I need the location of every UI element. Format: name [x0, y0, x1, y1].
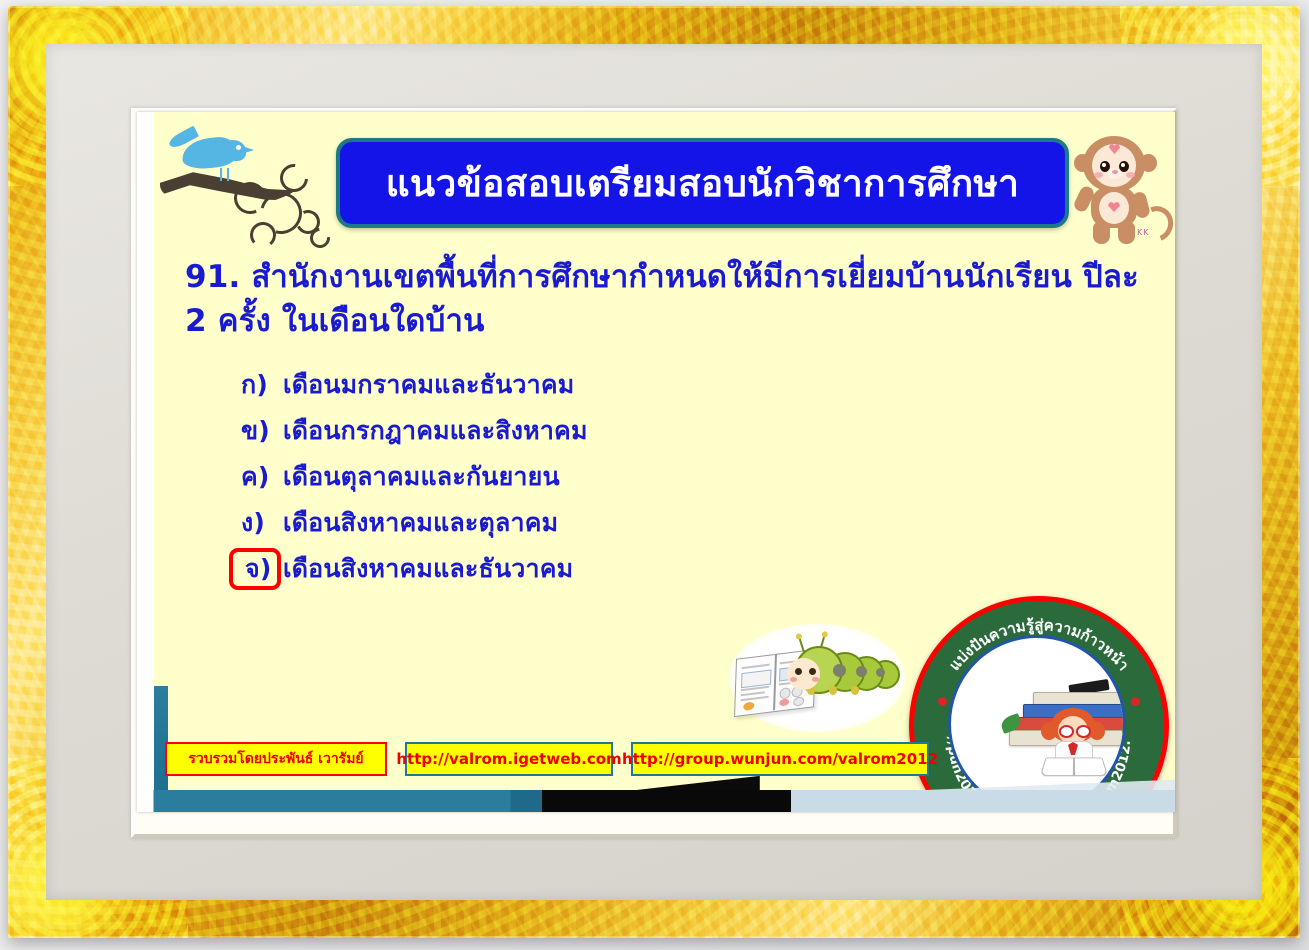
answer-choice-row[interactable]: ก) เดือนมกราคมและธันวาคม: [229, 362, 1129, 408]
bird-eye: [236, 145, 241, 150]
answer-choice-row[interactable]: ง) เดือนสิงหาคมและตุลาคม: [229, 500, 1129, 546]
slide-header: แนวข้อสอบเตรียมสอบนักวิชาการศึกษา: [154, 124, 1175, 246]
question-text: 91. สำนักงานเขตพื้นที่การศึกษากำหนดให้มี…: [185, 255, 1155, 343]
answer-choice-row[interactable]: ค) เดือนตุลาคมและกันยายน: [229, 454, 1129, 500]
answer-choice-label: เดือนสิงหาคมและธันวาคม: [281, 549, 573, 589]
seal-dot: [1131, 697, 1140, 706]
slide-canvas: แนวข้อสอบเตรียมสอบนักวิชาการศึกษา: [137, 112, 1175, 812]
bird-beak: [242, 146, 254, 154]
answer-choice-label: เดือนกรกฎาคมและสิงหาคม: [281, 411, 588, 451]
slide-bottom-band: [137, 790, 1175, 812]
answer-choice-key: ค): [229, 457, 281, 497]
caterpillar-reading-book-icon: [729, 624, 905, 732]
slide-title-banner: แนวข้อสอบเตรียมสอบนักวิชาการศึกษา: [336, 138, 1069, 228]
answer-choice-label: เดือนตุลาคมและกันยายน: [281, 457, 560, 497]
caterpillar-foot: [851, 686, 859, 695]
monkey-signature-text: KK: [1137, 228, 1150, 237]
monkey-cheek-left: [1094, 172, 1103, 178]
caterpillar-blush: [790, 677, 797, 682]
blue-bird-on-branch-icon: [160, 130, 332, 248]
page-root: แนวข้อสอบเตรียมสอบนักวิชาการศึกษา: [0, 0, 1309, 950]
caterpillar-eye: [795, 668, 802, 675]
monkey-nose: [1112, 170, 1118, 174]
answer-choice-row-selected[interactable]: จ) เดือนสิงหาคมและธันวาคม: [229, 546, 1129, 592]
caterpillar-spot: [833, 664, 846, 677]
answer-choice-key-highlighted: จ): [229, 548, 281, 590]
monkey-cheek-right: [1126, 172, 1135, 178]
answer-choice-key: ง): [229, 503, 281, 543]
glasses-icon: [1059, 725, 1074, 738]
slide-left-white-strip: [137, 112, 154, 812]
answer-choice-row[interactable]: ข) เดือนกรกฎาคมและสิงหาคม: [229, 408, 1129, 454]
seal-dot: [938, 697, 947, 706]
answer-choice-label: เดือนมกราคมและธันวาคม: [281, 365, 574, 405]
answer-choice-key: ข): [229, 411, 281, 451]
footer-link-group-wunjun[interactable]: http://group.wunjun.com/valrom2012: [631, 742, 929, 776]
footer-link-valrom-igetweb[interactable]: http://valrom.igetweb.com: [405, 742, 613, 776]
caterpillar-blush: [812, 677, 819, 682]
answer-choice-key: ก): [229, 365, 281, 405]
girl-reading-icon: [1035, 708, 1111, 774]
footer-credit-box: รวบรวมโดยประพันธ์ เวารัมย์: [165, 742, 387, 776]
slide-bottom-black-wedge: [531, 774, 759, 790]
answer-choice-list: ก) เดือนมกราคมและธันวาคม ข) เดือนกรกฎาคม…: [229, 362, 1129, 592]
footer-link-bar: รวบรวมโดยประพันธ์ เวารัมย์ http://valrom…: [165, 742, 929, 776]
answer-choice-label: เดือนสิงหาคมและตุลาคม: [281, 503, 558, 543]
caterpillar-foot: [829, 686, 837, 695]
glasses-icon: [1076, 725, 1091, 738]
circular-logo-seal: แบ่งปันความรู้สู่ความก้าวหน้า http://pun…: [909, 596, 1169, 812]
bird-leg: [220, 168, 222, 181]
caterpillar-eye: [809, 668, 816, 675]
open-book-icon: [1040, 758, 1108, 777]
caterpillar-spot: [856, 666, 867, 677]
slide-title-text: แนวข้อสอบเตรียมสอบนักวิชาการศึกษา: [386, 165, 1020, 202]
bird-leg: [227, 168, 229, 181]
caterpillar-face: [787, 658, 820, 690]
cartoon-monkey-mascot-icon: KK: [1061, 128, 1169, 246]
caterpillar-spot: [876, 668, 885, 677]
